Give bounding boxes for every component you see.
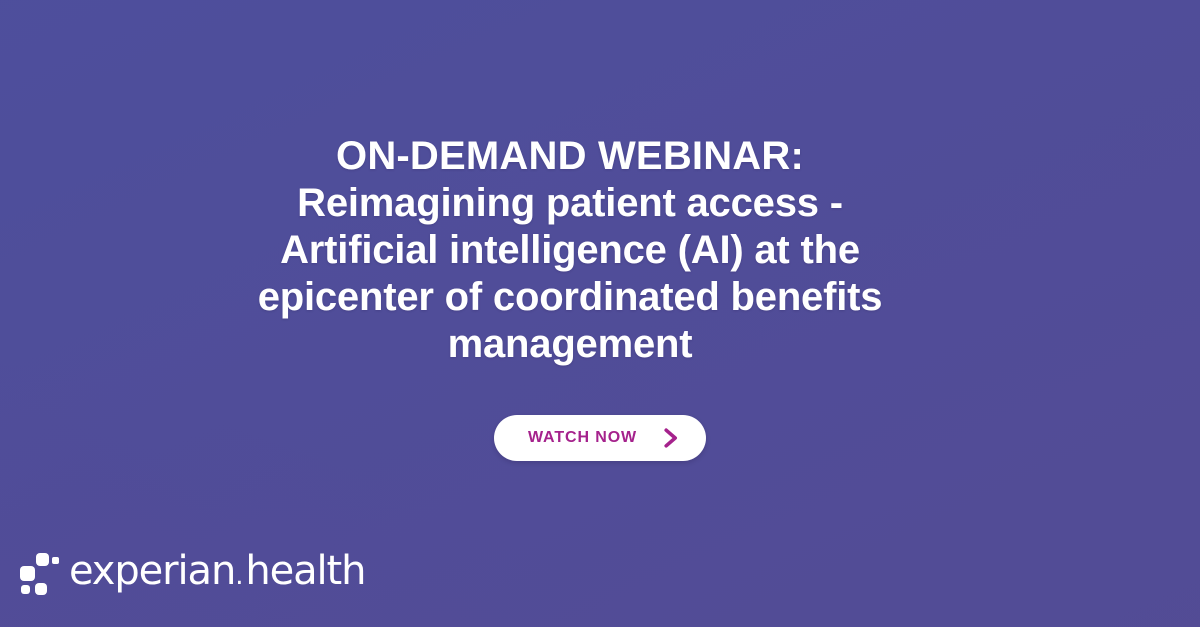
experian-dot-matrix-icon xyxy=(20,552,60,596)
watch-now-label: WATCH NOW xyxy=(528,429,637,447)
banner-content: ON-DEMAND WEBINAR: Reimagining patient a… xyxy=(0,0,1200,627)
headline-eyebrow: ON-DEMAND WEBINAR: xyxy=(120,133,1020,180)
cta-container: WATCH NOW xyxy=(0,415,1200,461)
headline-line-1: Reimagining patient access - xyxy=(120,180,1020,227)
logo-wordmark: experian.health xyxy=(69,551,365,596)
headline-line-4: management xyxy=(120,321,1020,368)
headline: ON-DEMAND WEBINAR: Reimagining patient a… xyxy=(0,133,1200,368)
logo-brand: experian xyxy=(69,548,235,594)
headline-line-3: epicenter of coordinated benefits xyxy=(120,274,1020,321)
logo-product: health xyxy=(245,548,365,594)
chevron-right-icon xyxy=(663,428,680,448)
experian-health-logo: experian.health xyxy=(20,551,365,596)
logo-separator: . xyxy=(235,561,242,591)
promo-banner: ON-DEMAND WEBINAR: Reimagining patient a… xyxy=(0,0,1200,627)
headline-line-2: Artificial intelligence (AI) at the xyxy=(120,227,1020,274)
watch-now-button[interactable]: WATCH NOW xyxy=(494,415,706,461)
